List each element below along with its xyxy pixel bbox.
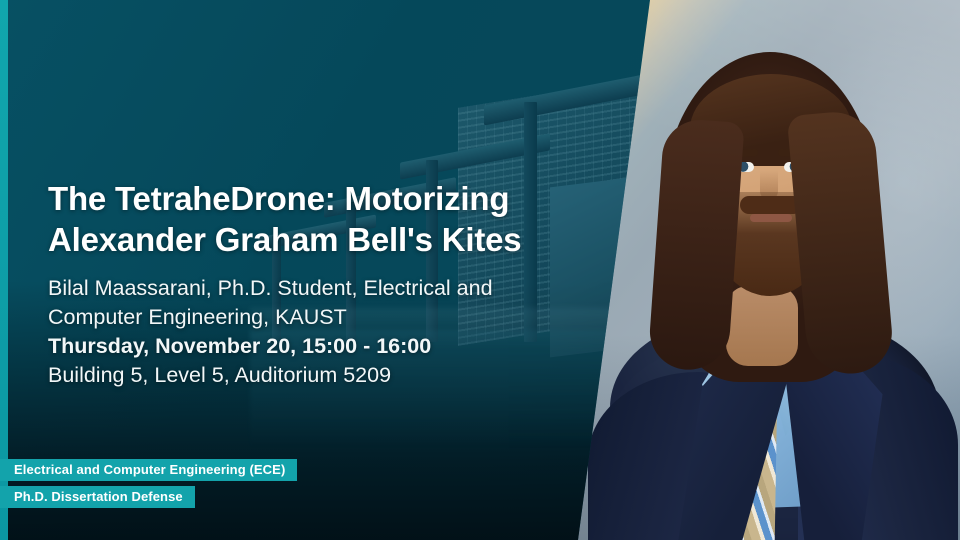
event-details: Bilal Maassarani, Ph.D. Student, Electri… <box>48 274 568 390</box>
badge-group: Electrical and Computer Engineering (ECE… <box>0 459 297 508</box>
event-datetime: Thursday, November 20, 15:00 - 16:00 <box>48 332 568 361</box>
title-line-2: Alexander Graham Bell's Kites <box>48 221 521 258</box>
badge-event-type: Ph.D. Dissertation Defense <box>0 486 195 508</box>
speaker-line-2: Computer Engineering, KAUST <box>48 303 568 332</box>
page-title: The TetraheDrone: Motorizing Alexander G… <box>48 178 568 260</box>
moustache <box>740 196 802 214</box>
speaker-line-1: Bilal Maassarani, Ph.D. Student, Electri… <box>48 274 568 303</box>
neck <box>726 286 798 366</box>
title-line-1: The TetraheDrone: Motorizing <box>48 180 509 217</box>
event-location: Building 5, Level 5, Auditorium 5209 <box>48 361 568 390</box>
mouth <box>750 214 792 222</box>
badge-department: Electrical and Computer Engineering (ECE… <box>0 459 297 481</box>
seminar-announcement-slide: The TetraheDrone: Motorizing Alexander G… <box>0 0 960 540</box>
